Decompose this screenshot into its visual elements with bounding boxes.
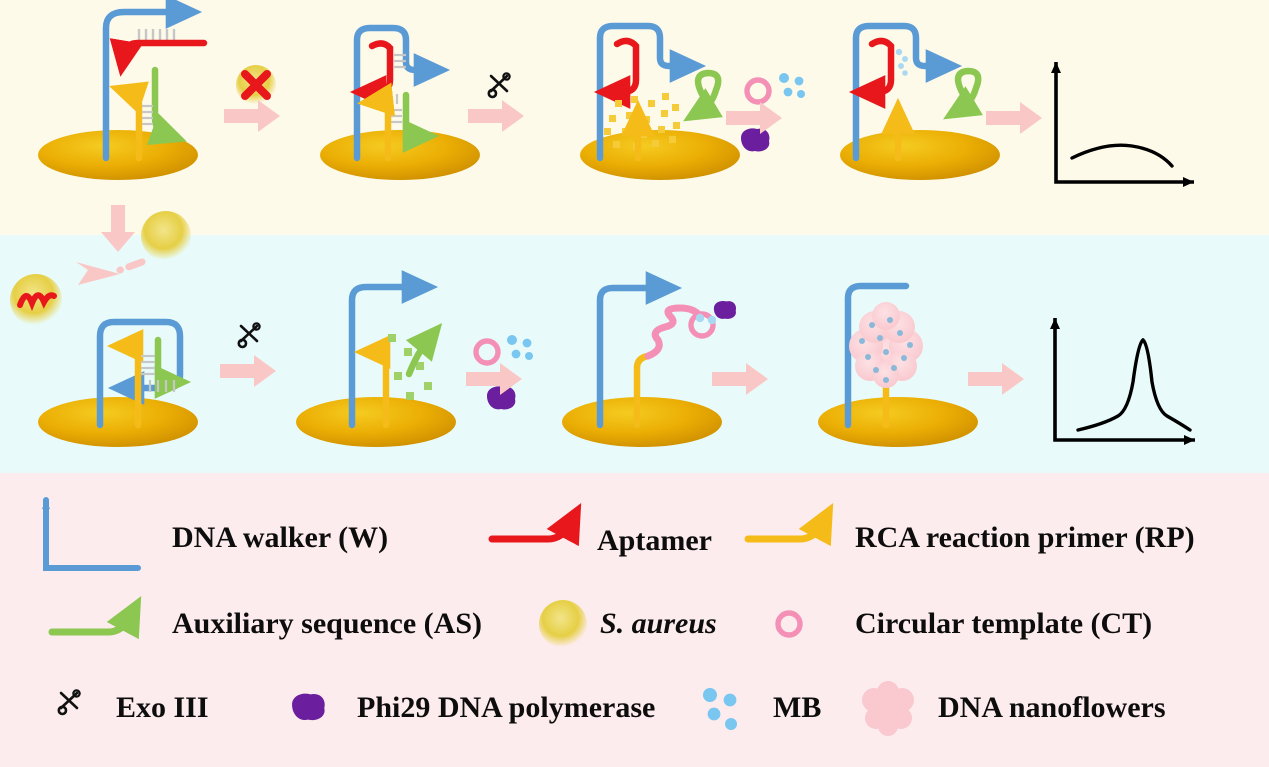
gold-electrode [840, 130, 1000, 180]
x-axis-arrowhead [1184, 435, 1195, 445]
circular-template-icon [747, 80, 769, 102]
aptamer-strand [372, 43, 390, 92]
nanoflower-icon [862, 681, 914, 736]
polymerase-icon [741, 128, 769, 151]
legend-label-mb: MB [773, 693, 821, 723]
aptamer-strand [124, 43, 204, 55]
polymerase-icon [714, 301, 736, 319]
plot-axes [1056, 62, 1194, 182]
bottom-signal-plot [1050, 318, 1195, 445]
mb-icon [507, 335, 533, 360]
gold-electrode [580, 130, 740, 180]
duplex-rungs-2 [142, 106, 153, 124]
figure-root: DNA walker (W) Aptamer RCA reaction prim… [0, 0, 1269, 767]
diagram-layer [0, 0, 1269, 767]
aptamer-strand [871, 41, 891, 92]
top-step-3 [580, 26, 740, 180]
transition-arrow-left-tail [120, 262, 142, 270]
legend-label-auxiliary-sequence: Auxiliary sequence (AS) [172, 609, 482, 639]
y-axis-arrowhead [1051, 62, 1061, 73]
auxiliary-strand [155, 70, 166, 134]
auxiliary-strand [158, 340, 169, 382]
rca-primer-icon [748, 524, 822, 539]
exo-iii-marker-1 [489, 73, 510, 97]
top-step-2 [320, 28, 480, 180]
circular-template-icon [778, 613, 800, 635]
gold-electrode [38, 130, 198, 180]
transition-arrow-left-head [76, 262, 120, 285]
exo-iii-marker-2 [239, 323, 260, 347]
legend-label-circular-template: Circular template (CT) [855, 609, 1152, 639]
dna-nanoflower [849, 302, 923, 388]
target-capture-transition [10, 205, 191, 326]
polymerase-icon [292, 694, 325, 721]
gold-electrode [38, 397, 198, 447]
top-step-4 [840, 26, 1000, 180]
bottom-step-4 [818, 286, 978, 447]
scissors-icon [239, 323, 260, 347]
process-arrow-7 [712, 363, 768, 395]
auxiliary-sequence-icon [52, 617, 130, 632]
bacteria-icon [141, 211, 191, 261]
dna-walker-icon [46, 500, 138, 568]
gold-electrode [320, 130, 480, 180]
gold-electrode [562, 397, 722, 447]
auxiliary-strand [406, 95, 417, 136]
circular-template-icon [476, 341, 498, 363]
legend-label-rca-primer: RCA reaction primer (RP) [855, 523, 1195, 553]
legend-label-phi29: Phi29 DNA polymerase [357, 693, 655, 723]
top-step-1 [38, 12, 204, 180]
released-auxiliary-strand [958, 71, 978, 108]
scissors-icon [489, 73, 510, 97]
legend-label-s-aureus: S. aureus [600, 609, 717, 639]
mb-icon [703, 688, 737, 730]
transition-arrow-down [101, 205, 135, 252]
plot-curve-peak [1078, 340, 1190, 430]
bottom-step-3 [562, 288, 736, 447]
legend-label-dna-walker: DNA walker (W) [172, 523, 388, 553]
released-auxiliary-strand [698, 73, 718, 110]
process-arrow-1 [224, 100, 280, 132]
bottom-step-2 [296, 287, 456, 447]
process-arrow-4 [986, 102, 1042, 134]
mb-dots [896, 49, 908, 76]
legend-label-dna-nanoflowers: DNA nanoflowers [938, 693, 1166, 723]
process-arrow-8 [968, 363, 1024, 395]
mb-icon [779, 73, 805, 98]
scissors-icon [59, 690, 80, 714]
plot-curve-low [1072, 145, 1172, 166]
x-axis-arrowhead [1183, 177, 1194, 187]
no-binding-marker [236, 65, 276, 105]
top-signal-plot [1051, 62, 1194, 187]
bacteria-icon [539, 600, 587, 648]
aptamer-strand [616, 41, 636, 92]
bottom-step-1 [38, 322, 198, 447]
legend-label-aptamer: Aptamer [597, 526, 712, 556]
y-axis-arrowhead [1050, 318, 1060, 329]
aptamer-icon [492, 524, 570, 539]
legend-label-exo-iii: Exo III [116, 693, 209, 723]
gold-electrode [296, 397, 456, 447]
process-arrow-5 [220, 355, 276, 387]
process-arrow-2 [468, 100, 524, 132]
gold-electrode [818, 397, 978, 447]
